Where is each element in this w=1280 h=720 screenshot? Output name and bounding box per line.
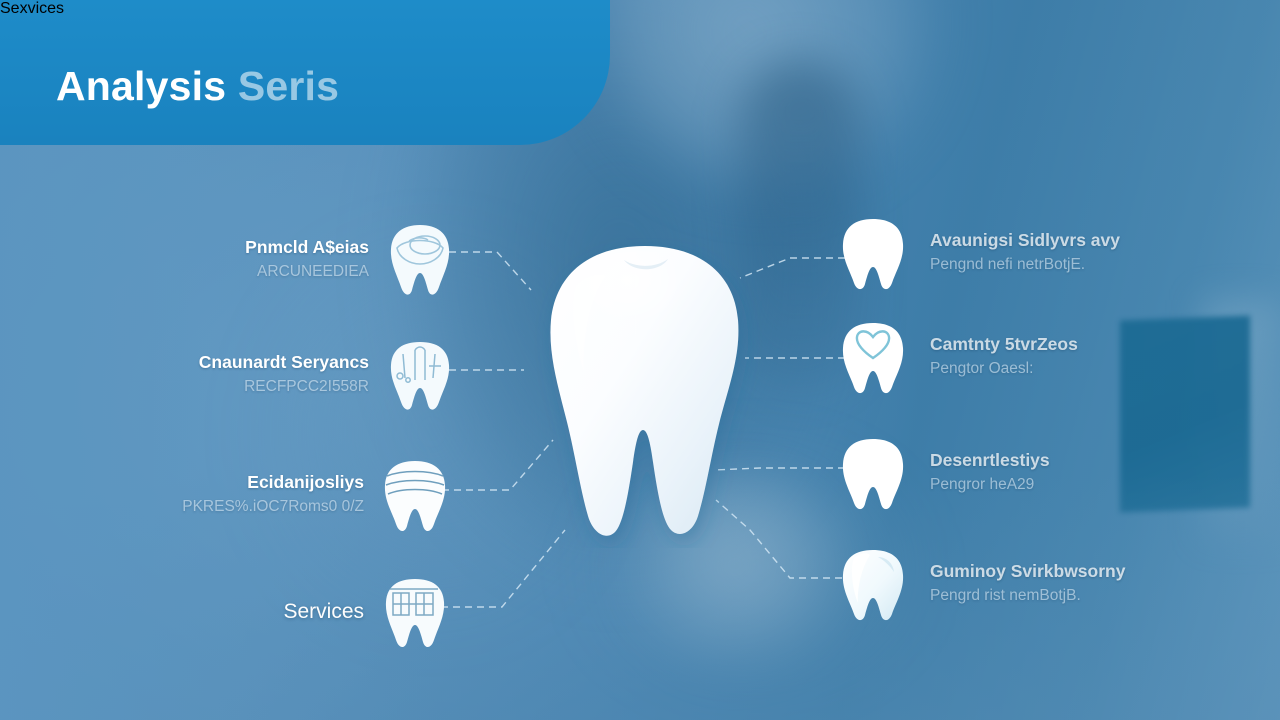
service-labels: Desenrtlestiys Pengror heA29: [930, 450, 1050, 495]
tooth-cavity-outline-icon: [838, 318, 908, 396]
tooth-rootcanal-icon: [385, 336, 455, 414]
header-banner: Analysis Seris Sexvices: [0, 0, 610, 145]
service-item-right-3[interactable]: Desenrtlestiys Pengror heA29: [838, 428, 1238, 518]
service-item-left-4[interactable]: Services: [200, 570, 450, 654]
tooth-plain-icon: [838, 434, 908, 512]
service-labels: Cnaunardt Seryancs RECFPCC2I558R: [199, 352, 369, 397]
service-subtitle: RECFPCC2I558R: [244, 377, 369, 397]
service-labels: Pnmcld A$eias ARCUNEEDIEA: [245, 237, 369, 282]
tooth-braces-icon: [380, 573, 450, 651]
tooth-glossy-icon: [838, 545, 908, 623]
service-item-left-3[interactable]: Ecidanijosliys PKRES%.iOC7Roms0 0/Z: [90, 450, 450, 540]
tooth-filling-icon: [385, 221, 455, 299]
tooth-bands-icon: [380, 456, 450, 534]
service-item-right-1[interactable]: Avaunigsi Sidlyvrs avy Pengnd nefi netrB…: [838, 208, 1238, 298]
tooth-plain-icon: [838, 214, 908, 292]
service-labels: Ecidanijosliys PKRES%.iOC7Roms0 0/Z: [182, 472, 364, 517]
title-ghost-part: Seris: [238, 63, 339, 109]
service-title: Ecidanijosliys: [247, 472, 364, 494]
service-subtitle: Pengrd rist nemBotjB.: [930, 586, 1081, 606]
service-labels: Camtnty 5tvrZeos Pengtor Oaesl:: [930, 334, 1078, 379]
service-labels: Guminoy Svirkbwsorny Pengrd rist nemBotj…: [930, 561, 1125, 606]
service-title: Pnmcld A$eias: [245, 237, 369, 259]
service-title: Desenrtlestiys: [930, 450, 1050, 472]
service-item-left-1[interactable]: Pnmcld A$eias ARCUNEEDIEA: [110, 215, 455, 305]
service-subtitle: PKRES%.iOC7Roms0 0/Z: [182, 497, 364, 517]
title-overlay-part: Sexvices: [0, 0, 610, 18]
service-item-left-2[interactable]: Cnaunardt Seryancs RECFPCC2I558R: [100, 330, 455, 420]
service-title: Cnaunardt Seryancs: [199, 352, 369, 374]
service-subtitle: Pengtor Oaesl:: [930, 359, 1033, 379]
central-tooth-illustration: [520, 238, 770, 548]
page-title: Analysis Seris: [56, 63, 339, 110]
service-item-right-2[interactable]: Camtnty 5tvrZeos Pengtor Oaesl:: [838, 312, 1238, 402]
service-item-right-4[interactable]: Guminoy Svirkbwsorny Pengrd rist nemBotj…: [838, 538, 1238, 630]
service-title: Camtnty 5tvrZeos: [930, 334, 1078, 356]
service-labels: Services: [283, 599, 364, 625]
service-subtitle: ARCUNEEDIEA: [257, 262, 369, 282]
service-title: Services: [283, 599, 364, 625]
service-subtitle: Pengror heA29: [930, 475, 1034, 495]
title-clear-part: Analysis: [56, 63, 238, 109]
service-subtitle: Pengnd nefi netrBotjE.: [930, 255, 1085, 275]
service-labels: Avaunigsi Sidlyvrs avy Pengnd nefi netrB…: [930, 230, 1120, 275]
service-title: Guminoy Svirkbwsorny: [930, 561, 1125, 583]
service-title: Avaunigsi Sidlyvrs avy: [930, 230, 1120, 252]
